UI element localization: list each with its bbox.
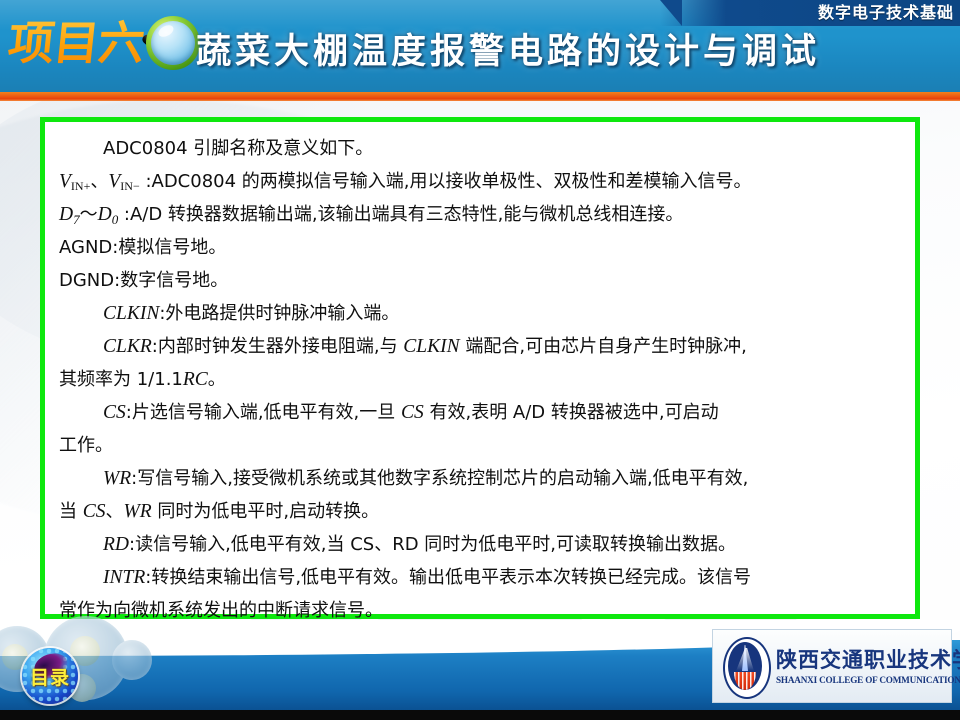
content-frame: ADC0804 引脚名称及意义如下。 VIN+、VIN− :ADC0804 的两… [40,117,920,619]
text-line: DGND:数字信号地。 [59,264,897,297]
text-line-content: INTR:转换结束输出信号,低电平有效。输出低电平表示本次转换已经完成。该信号 [103,561,751,594]
emblem-arc-stripes [734,672,756,690]
toc-button-label: 目录 [22,648,78,704]
emblem-inner-field [728,642,762,690]
text-line-content: CLKR:内部时钟发生器外接电阻端,与 CLKIN 端配合,可由芯片自身产生时钟… [103,330,747,363]
text-line-content: 工作。 [59,435,113,456]
text-line-content: VIN+、VIN− :ADC0804 的两模拟信号输入端,用以接收单极性、双极性… [59,165,752,198]
project-badge-text: 项目六 [4,8,148,86]
text-line-content: 常作为向微机系统发出的中断请求信号。 [59,600,383,621]
text-line: CLKR:内部时钟发生器外接电阻端,与 CLKIN 端配合,可由芯片自身产生时钟… [59,330,897,363]
text-line: CS:片选信号输入端,低电平有效,一旦 CS 有效,表明 A/D 转换器被选中,… [59,396,897,429]
orange-accent-bar [0,92,960,101]
text-line: RD:读信号输入,低电平有效,当 CS、RD 同时为低电平时,可读取转换输出数据… [59,528,897,561]
text-line-content: DGND:数字信号地。 [59,270,228,291]
text-line-content: CLKIN:外电路提供时钟脉冲输入端。 [103,303,399,324]
college-name-en: SHAANXI COLLEGE OF COMMUNICATION TECHNOL… [776,674,960,687]
text-line-content: 其频率为 1/1.1RC。 [59,369,226,390]
text-line-content: ADC0804 引脚名称及意义如下。 [103,138,373,159]
college-name-cn: 陕西交通职业技术学院 [776,646,960,674]
text-line: AGND:模拟信号地。 [59,231,897,264]
project-badge: 项目六 项目六 [0,0,160,92]
magnifier-icon [138,14,202,78]
text-line: CLKIN:外电路提供时钟脉冲输入端。 [59,297,897,330]
text-line: INTR:转换结束输出信号,低电平有效。输出低电平表示本次转换已经完成。该信号 [59,561,897,594]
slide-bottom-edge [0,710,960,720]
slide-header: 数字电子技术基础 项目六 项目六 蔬菜大棚温度报警电路的设计与调试 [0,0,960,92]
text-line-content: RD:读信号输入,低电平有效,当 CS、RD 同时为低电平时,可读取转换输出数据… [103,528,736,561]
text-line-content: 当 CS、WR 同时为低电平时,启动转换。 [59,501,379,522]
text-line: 工作。 [59,429,897,462]
table-of-contents-button[interactable]: 目录 [22,648,78,704]
text-line: D7～D0 :A/D 转换器数据输出端,该输出端具有三态特性,能与微机总线相连接… [59,198,897,231]
page-title: 蔬菜大棚温度报警电路的设计与调试 [196,26,916,82]
text-line-content: CS:片选信号输入端,低电平有效,一旦 CS 有效,表明 A/D 转换器被选中,… [103,396,719,429]
slide-canvas: 数字电子技术基础 项目六 项目六 蔬菜大棚温度报警电路的设计与调试 ADC080… [0,0,960,720]
text-line: 当 CS、WR 同时为低电平时,启动转换。 [59,495,897,528]
text-line: 其频率为 1/1.1RC。 [59,363,897,396]
text-line-content: AGND:模拟信号地。 [59,237,226,258]
college-logo-text: 陕西交通职业技术学院 SHAANXI COLLEGE OF COMMUNICAT… [771,646,960,687]
course-label: 数字电子技术基础 [818,1,954,25]
college-logo: 陕西交通职业技术学院 SHAANXI COLLEGE OF COMMUNICAT… [712,629,952,703]
text-line: WR:写信号输入,接受微机系统或其他数字系统控制芯片的启动输入端,低电平有效, [59,462,897,495]
body-text-block: ADC0804 引脚名称及意义如下。 VIN+、VIN− :ADC0804 的两… [59,132,897,627]
text-line: ADC0804 引脚名称及意义如下。 [59,132,897,165]
gear-shape [112,640,152,680]
text-line-content: D7～D0 :A/D 转换器数据输出端,该输出端具有三态特性,能与微机总线相连接… [59,198,683,231]
college-emblem-icon [719,635,771,697]
text-line: VIN+、VIN− :ADC0804 的两模拟信号输入端,用以接收单极性、双极性… [59,165,897,198]
text-line-content: WR:写信号输入,接受微机系统或其他数字系统控制芯片的启动输入端,低电平有效, [103,462,748,495]
